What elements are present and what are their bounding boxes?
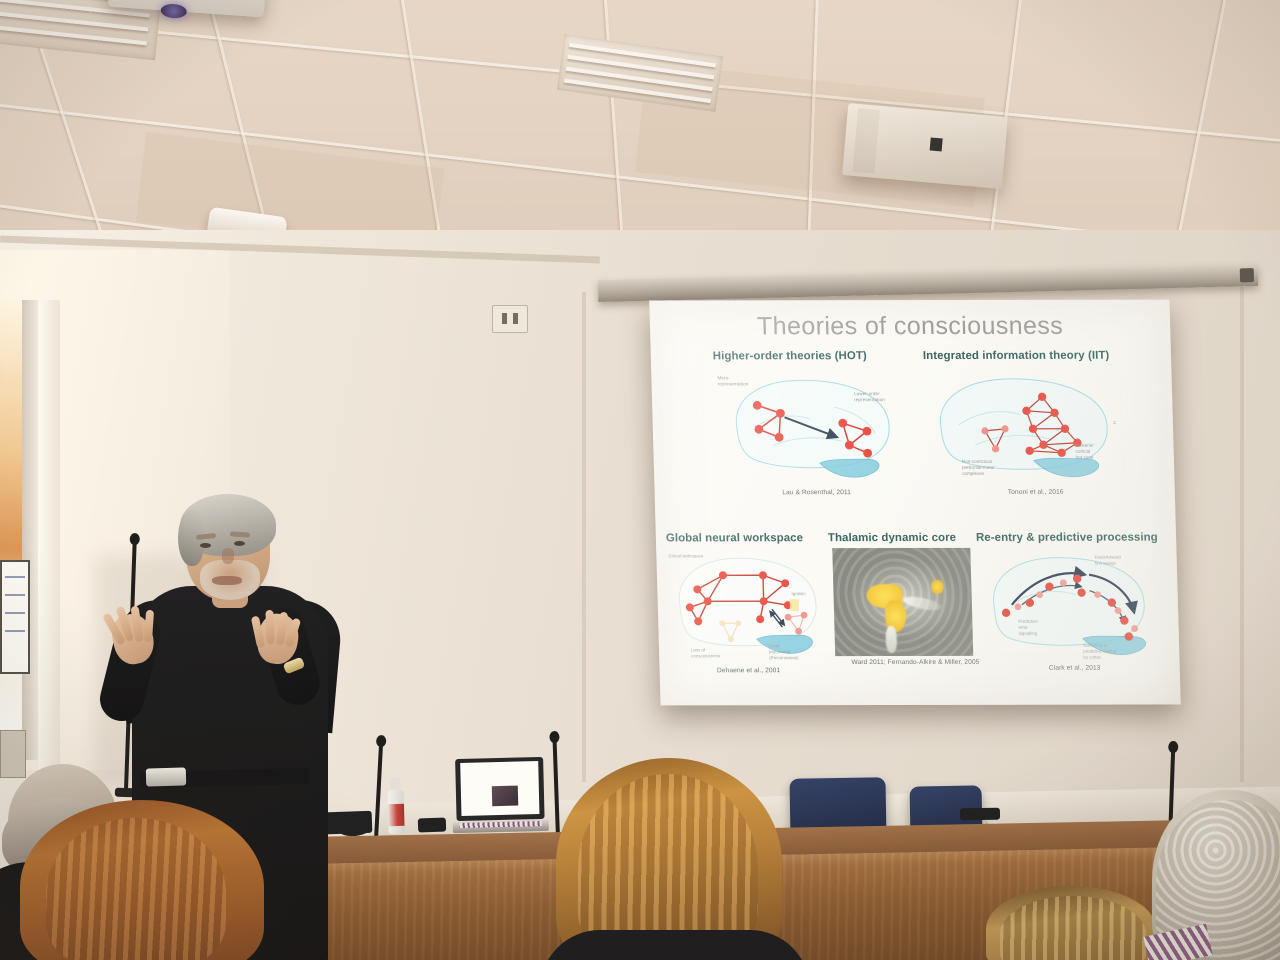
brain-network-diagram-gnw: Global workspace Ignition Loss of consci… (666, 547, 827, 667)
mri-sagittal-brain (832, 548, 973, 656)
svg-text:representation: representation (854, 397, 885, 402)
slide-content: Theories of consciousness Higher-order t… (649, 300, 1180, 706)
svg-text:(Preconscious): (Preconscious) (769, 655, 799, 660)
svg-text:error: error (1018, 625, 1028, 630)
panel-gnw-label-0: Global workspace (668, 553, 704, 558)
panel-hot-label-1: Lower-order (854, 391, 880, 396)
panel-iit-figure: = Posterior cortical hot zone Non-consci… (923, 367, 1144, 489)
wall-pillar (38, 300, 60, 770)
panel-gnw-label-2: Loss of (691, 647, 706, 652)
wall-seam (582, 292, 586, 782)
laptop-lid (455, 757, 544, 821)
svg-text:first sweep: first sweep (1095, 561, 1117, 566)
laptop[interactable] (451, 757, 549, 833)
panel-iit-citation: Tononi et al., 2016 (927, 489, 1145, 496)
svg-text:consciousness: consciousness (691, 653, 721, 658)
panel-iit: Integrated information theory (IIT) (923, 350, 1145, 496)
presenter-mouth (212, 576, 242, 585)
panel-iit-heading: Integrated information theory (IIT) (923, 350, 1141, 362)
slide-title: Theories of consciousness (660, 312, 1161, 342)
panel-repp-label-1: Prediction (1018, 619, 1038, 624)
power-outlet (492, 305, 528, 333)
panel-gnw-citation: Dehaene et al., 2001 (670, 667, 828, 674)
panel-repp-figure: Feed-forward first sweep Prediction erro… (976, 547, 1169, 667)
laptop-screen (460, 761, 539, 816)
desk-clutter (418, 818, 446, 833)
svg-text:=: = (1113, 421, 1117, 427)
panel-hot-citation: Lau & Rosenthal, 2011 (717, 489, 917, 496)
panel-hot: Higher-order theories (HOT) (713, 350, 917, 496)
svg-text:signalling: signalling (1019, 631, 1038, 636)
panel-tdc-heading: Thalamic dynamic core (828, 532, 978, 544)
panel-repp: Re-entry & predictive processing (976, 532, 1170, 672)
svg-text:hot zone: hot zone (1076, 455, 1094, 460)
brain-network-diagram-hot: Meta- representation Lower-order represe… (713, 367, 916, 489)
panel-tdc-citation: Ward 2011; Fernando-Alkire & Miller, 200… (831, 659, 999, 666)
panel-gnw-figure: Global workspace Ignition Loss of consci… (666, 547, 827, 667)
lecture-hall-photo: Theories of consciousness Higher-order t… (0, 0, 1280, 960)
svg-text:representation: representation (718, 381, 749, 386)
panel-gnw: Global neural workspace (666, 532, 828, 674)
svg-text:complexes: complexes (962, 471, 985, 476)
wall-equipment-box (0, 730, 26, 778)
brain-network-diagram-iit: = Posterior cortical hot zone Non-consci… (923, 367, 1144, 489)
panel-repp-label-2: Gathering of (1083, 643, 1108, 648)
audience-shoulders (540, 930, 810, 960)
presenter-nose (222, 548, 234, 564)
audience-hair-highlight (46, 818, 226, 960)
projection-screen: Theories of consciousness Higher-order t… (649, 300, 1180, 706)
svg-text:predictive coding: predictive coding (1083, 649, 1117, 654)
roller-end-cap (1240, 268, 1254, 282)
brain-network-diagram-repp: Feed-forward first sweep Prediction erro… (976, 547, 1169, 667)
panel-hot-label-0: Meta- (717, 375, 730, 380)
panel-gnw-label-1: Ignition (791, 591, 806, 596)
panel-repp-label-0: Feed-forward (1095, 555, 1122, 560)
presenter-belt-buckle (146, 767, 186, 786)
panel-repp-heading: Re-entry & predictive processing (976, 532, 1166, 544)
panel-tdc: Thalamic dynamic core Ward 2011; Fernand… (828, 532, 982, 666)
wall-notice-sign (0, 560, 30, 674)
laptop-slide-thumbnail (492, 786, 518, 807)
wall-seam (1240, 282, 1244, 782)
panel-hot-heading: Higher-order theories (HOT) (713, 350, 913, 362)
svg-text:processing: processing (769, 649, 791, 654)
svg-text:prefrontal-motor: prefrontal-motor (962, 465, 995, 470)
ceiling-speaker-box-right (842, 103, 1008, 189)
svg-text:cortical: cortical (1076, 449, 1091, 454)
panel-gnw-heading: Global neural workspace (666, 532, 824, 544)
door-frame (22, 300, 38, 760)
panel-iit-label-0: Posterior (1075, 443, 1094, 448)
svg-text:by cortex: by cortex (1083, 655, 1102, 660)
panel-hot-figure: Meta- representation Lower-order represe… (713, 367, 916, 489)
panel-iit-label-1: Non-conscious (962, 459, 993, 464)
panel-gnw-label-3: Local (769, 643, 780, 648)
water-bottle (387, 778, 404, 834)
slide-row-top: Higher-order theories (HOT) (651, 350, 1176, 536)
laptop-base (453, 820, 549, 833)
slide-row-bottom: Global neural workspace (656, 532, 1181, 708)
